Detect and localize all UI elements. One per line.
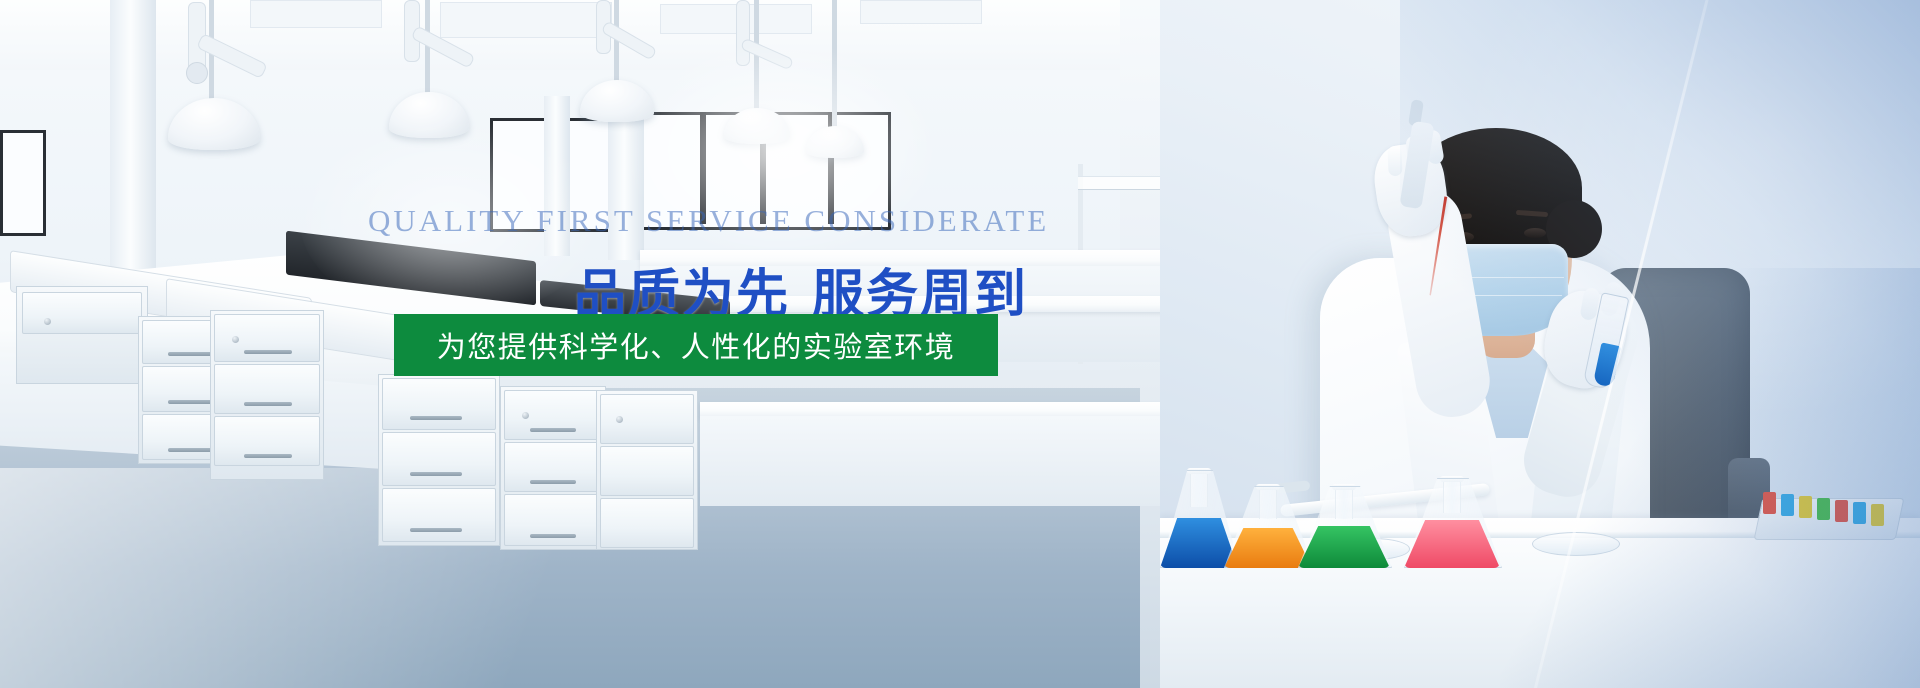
hero-banner: QUALITY FIRST SERVICE CONSIDERATE 品质为先服务… <box>0 0 1920 688</box>
drawer <box>214 364 320 414</box>
drawer <box>382 378 496 430</box>
drawer-handle <box>410 416 462 420</box>
drawer <box>504 442 602 492</box>
lamp-stem <box>832 0 837 128</box>
flask-green <box>1298 488 1390 568</box>
drawer-handle <box>244 350 292 354</box>
drawer <box>22 292 142 334</box>
drawer <box>382 432 496 486</box>
drawer-handle <box>530 428 576 432</box>
drawer-handle <box>530 480 576 484</box>
drawer-handle <box>530 534 576 538</box>
ceiling-panel <box>250 0 382 28</box>
drawer <box>504 390 602 440</box>
drawer <box>382 488 496 542</box>
drawer-handle <box>168 400 212 404</box>
drawer-handle <box>244 454 292 458</box>
drawer-lock <box>522 412 529 419</box>
drawer <box>600 446 694 496</box>
pillar <box>544 96 570 256</box>
drawer-handle <box>410 528 462 532</box>
drawer-handle <box>410 472 462 476</box>
window <box>0 130 46 236</box>
drawer <box>600 394 694 444</box>
drawer <box>214 416 320 466</box>
blue-overlay-corner <box>1500 268 1920 688</box>
drawer <box>504 494 602 546</box>
drawer-lock <box>232 336 239 343</box>
drawer-lock <box>616 416 623 423</box>
ceiling-panel <box>860 0 982 24</box>
drawer-handle <box>244 402 292 406</box>
arm-joint <box>186 62 208 84</box>
window-mullion <box>700 112 706 224</box>
drawer-handle <box>168 448 212 452</box>
ceiling-panel <box>440 2 612 38</box>
scientist-photo <box>1160 0 1920 688</box>
right-counter-side <box>700 416 1220 506</box>
drawer <box>214 314 320 362</box>
drawer-handle <box>168 352 212 356</box>
drawer-lock <box>44 318 51 325</box>
drawer <box>600 498 694 548</box>
pillar <box>110 0 156 300</box>
extraction-arm <box>736 0 750 66</box>
